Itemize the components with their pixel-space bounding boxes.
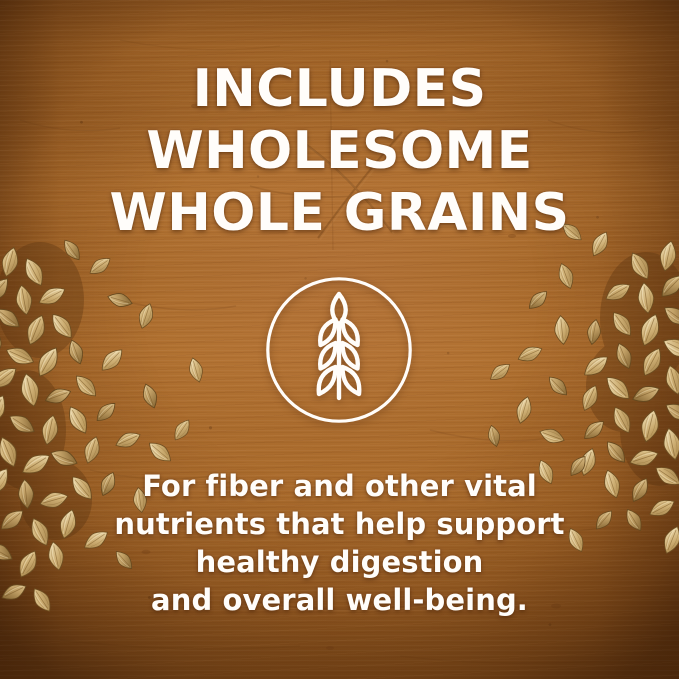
headline-line-3: WHOLE GRAINS	[0, 182, 679, 244]
wheat-stalk-icon	[265, 276, 413, 424]
page-title: INCLUDES WHOLESOME WHOLE GRAINS	[0, 58, 679, 244]
benefit-copy: For fiber and other vital nutrients that…	[0, 467, 679, 619]
wheat-badge	[265, 276, 413, 424]
headline-line-2: WHOLESOME	[0, 120, 679, 182]
subtext-line-3: healthy digestion	[0, 543, 679, 581]
headline-line-1: INCLUDES	[0, 58, 679, 120]
subtext-line-1: For fiber and other vital	[0, 467, 679, 505]
whole-grains-banner: INCLUDES WHOLESOME WHOLE GRAINS	[0, 0, 679, 679]
subtext-line-4: and overall well-being.	[0, 581, 679, 619]
subtext-line-2: nutrients that help support	[0, 505, 679, 543]
